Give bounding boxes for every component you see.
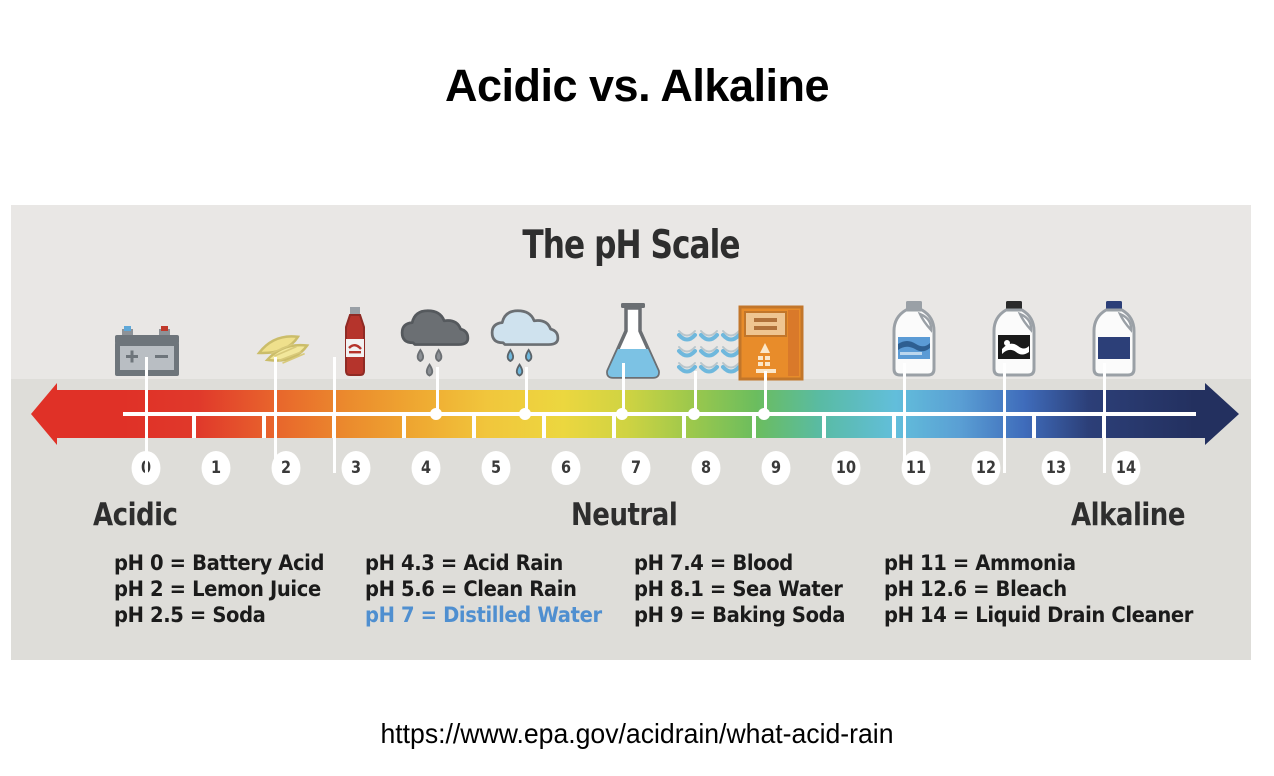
marker-icon-liquid-drain-cleaner xyxy=(1073,283,1157,383)
ammonia-bottle-icon xyxy=(886,297,944,383)
page-title: Acidic vs. Alkaline xyxy=(0,60,1274,112)
ph-value-14: 14 xyxy=(1112,451,1141,485)
legend-column-rain: pH 4.3 = Acid Rain pH 5.6 = Clean Rain p… xyxy=(365,550,620,628)
ph-value-9: 9 xyxy=(762,451,791,485)
ph-scale-infographic: The pH Scale xyxy=(11,205,1251,660)
legend-item: pH 4.3 = Acid Rain xyxy=(365,550,602,576)
legend-item: pH 2 = Lemon Juice xyxy=(114,576,324,602)
ph-value-7: 7 xyxy=(622,451,651,485)
legend-item: pH 2.5 = Soda xyxy=(114,602,324,628)
drain-cleaner-bottle-icon xyxy=(1086,297,1144,383)
ph-value-3: 3 xyxy=(342,451,371,485)
legend-item: pH 5.6 = Clean Rain xyxy=(365,576,602,602)
ph-value-1: 1 xyxy=(202,451,231,485)
bar-separator-9 xyxy=(752,416,756,438)
legend-item: pH 9 = Baking Soda xyxy=(634,602,845,628)
legend-item: pH 14 = Liquid Drain Cleaner xyxy=(884,602,1193,628)
ph-value-12: 12 xyxy=(972,451,1001,485)
leader-line-ph-11 xyxy=(903,363,906,473)
soda-bottle-icon xyxy=(333,305,377,383)
slide-canvas: Acidic vs. Alkaline The pH Scale xyxy=(0,0,1274,776)
legend-column-alkaline: pH 11 = Ammonia pH 12.6 = Bleach pH 14 =… xyxy=(884,550,1216,628)
source-url: https://www.epa.gov/acidrain/what-acid-r… xyxy=(32,718,1242,750)
bar-connector-dot-4-3 xyxy=(430,408,442,420)
bar-separator-3 xyxy=(332,416,336,438)
legend-item: pH 8.1 = Sea Water xyxy=(634,576,845,602)
bar-separator-11 xyxy=(892,416,896,438)
bar-connector-dot-9 xyxy=(758,408,770,420)
marker-icon-bleach xyxy=(973,283,1057,383)
legend-item: pH 11 = Ammonia xyxy=(884,550,1193,576)
bar-separator-2 xyxy=(262,416,266,438)
legend-item-distilled-water: pH 7 = Distilled Water xyxy=(365,602,602,628)
zone-label-alkaline: Alkaline xyxy=(1071,497,1185,533)
infographic-title: The pH Scale xyxy=(135,223,1127,268)
zone-label-acidic: Acidic xyxy=(93,497,177,533)
dark-rain-cloud-icon xyxy=(393,297,477,383)
bar-connector-dot-5-6 xyxy=(519,408,531,420)
ph-value-4: 4 xyxy=(412,451,441,485)
zone-label-neutral: Neutral xyxy=(571,497,677,533)
legend-column-acidic: pH 0 = Battery Acid pH 2 = Lemon Juice p… xyxy=(114,550,340,628)
flask-icon xyxy=(601,297,665,383)
ph-value-6: 6 xyxy=(552,451,581,485)
legend-column-neutral: pH 7.4 = Blood pH 8.1 = Sea Water pH 9 =… xyxy=(634,550,861,628)
bar-connector-dot-7 xyxy=(616,408,628,420)
acidic-direction-arrow xyxy=(31,383,127,445)
bar-separator-6 xyxy=(542,416,546,438)
alkaline-direction-arrow xyxy=(1191,383,1251,445)
bar-separator-1 xyxy=(192,416,196,438)
legend-item: pH 0 = Battery Acid xyxy=(114,550,324,576)
lemon-icon xyxy=(253,321,317,383)
bar-separator-7 xyxy=(612,416,616,438)
marker-icon-distilled-water xyxy=(591,283,675,383)
ph-value-10: 10 xyxy=(832,451,861,485)
ph-number-scale: 0 1 2 3 4 5 6 7 8 9 10 11 12 13 14 xyxy=(11,451,1251,485)
bar-separator-10 xyxy=(822,416,826,438)
ph-gradient-bar xyxy=(11,383,1251,445)
marker-icon-ammonia xyxy=(873,283,957,383)
marker-icon-baking-soda xyxy=(729,283,813,383)
bar-separator-5 xyxy=(472,416,476,438)
baking-soda-box-icon xyxy=(734,301,808,383)
ph-value-8: 8 xyxy=(692,451,721,485)
leader-line-ph-12-6 xyxy=(1003,363,1006,473)
bleach-bottle-icon xyxy=(986,297,1044,383)
icon-row xyxy=(11,283,1251,383)
legend-item: pH 7.4 = Blood xyxy=(634,550,845,576)
ph-value-13: 13 xyxy=(1042,451,1071,485)
bar-connector-dot-8-1 xyxy=(688,408,700,420)
ph-value-5: 5 xyxy=(482,451,511,485)
bar-separator-12 xyxy=(1032,416,1036,438)
bar-separator-8 xyxy=(682,416,686,438)
legend-item: pH 12.6 = Bleach xyxy=(884,576,1193,602)
ph-legend: pH 0 = Battery Acid pH 2 = Lemon Juice p… xyxy=(11,550,1251,655)
marker-icon-soda xyxy=(313,283,397,383)
bar-separator-13 xyxy=(1102,416,1106,438)
bar-separator-4 xyxy=(402,416,406,438)
marker-icon-acid-rain xyxy=(393,283,477,383)
